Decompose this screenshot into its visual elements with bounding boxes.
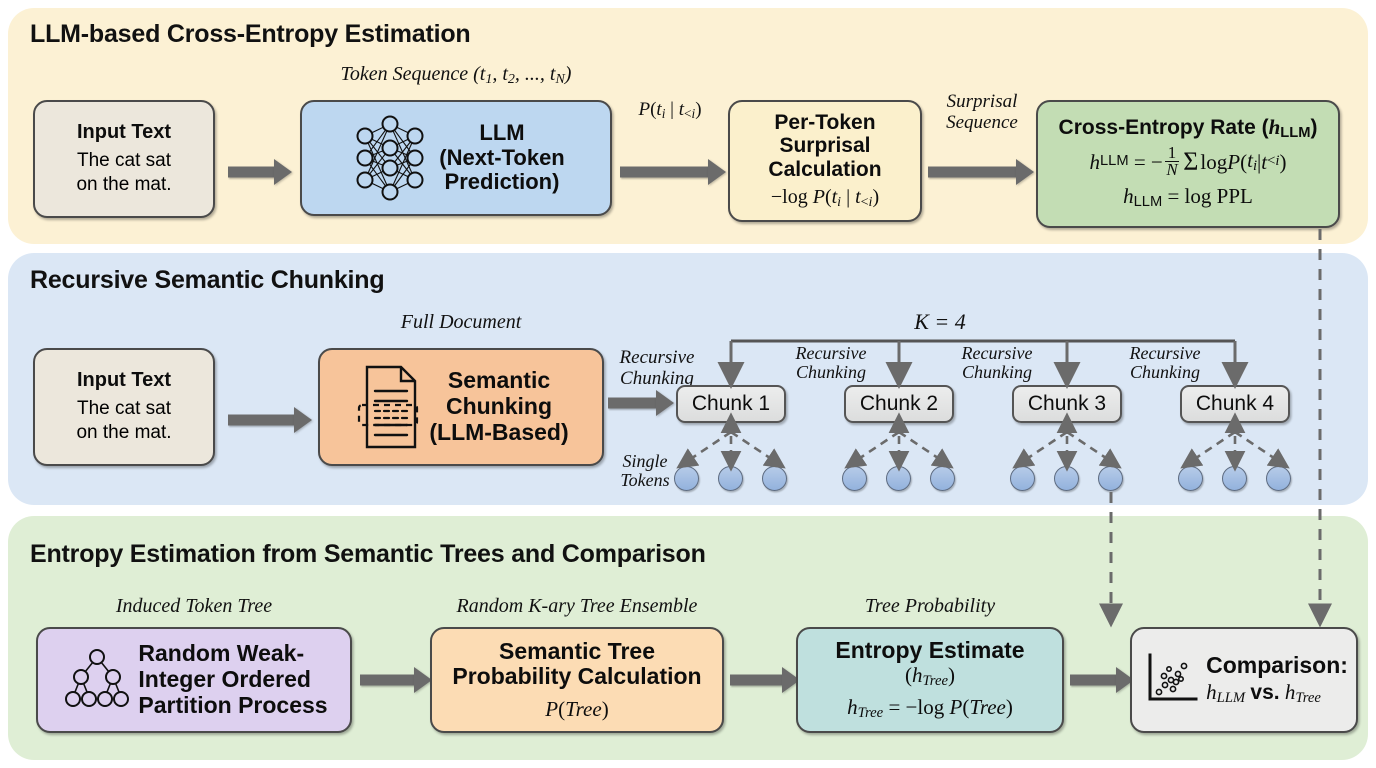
entropy-estimate-line1: Entropy Estimate xyxy=(835,638,1024,664)
surprisal-sequence-line1: Surprisal xyxy=(930,92,1034,113)
arrow-label-conditional-prob: P(ti | t<i) xyxy=(618,100,722,121)
comparison-line1: Comparison: xyxy=(1206,653,1348,679)
branch-label-2-line2: Chunking xyxy=(942,363,1052,382)
token-circle xyxy=(886,466,911,491)
input-text-box-2: Input Text The cat sat on the mat. xyxy=(33,348,215,466)
llm-box-line2: (Next-Token xyxy=(439,146,565,171)
branch-label-2-line1: Recursive xyxy=(942,344,1052,363)
token-circle xyxy=(1054,466,1079,491)
arrow-rwiop-to-prob xyxy=(360,667,432,693)
conditional-prob-text: P(ti | t<i) xyxy=(638,99,701,120)
surprisal-sequence-line2: Sequence xyxy=(930,113,1034,134)
neural-network-icon xyxy=(347,110,433,206)
token-circle xyxy=(930,466,955,491)
token-circle xyxy=(842,466,867,491)
arrow-surprisal-to-entropy xyxy=(928,159,1034,185)
scatter-plot-icon xyxy=(1140,649,1200,711)
llm-box: LLM (Next-Token Prediction) xyxy=(300,100,612,216)
input-text-2-line1: The cat sat xyxy=(77,397,171,421)
prob-formula: P(Tree) xyxy=(545,697,608,721)
entropy-estimate-formula: hTree = −log P(Tree) xyxy=(847,695,1013,722)
chunk-box-4: Chunk 4 xyxy=(1180,385,1290,423)
arrow-label-surprisal-sequence: Surprisal Sequence xyxy=(930,92,1034,133)
k-value-text: K = 4 xyxy=(914,309,966,334)
token-circle xyxy=(1098,466,1123,491)
input-text-line1: The cat sat xyxy=(77,149,171,173)
surprisal-line3: Calculation xyxy=(768,158,881,182)
token-circle xyxy=(674,466,699,491)
token-circle xyxy=(762,466,787,491)
input-text-2-title: Input Text xyxy=(77,369,171,391)
token-circle xyxy=(1178,466,1203,491)
prob-line1: Semantic Tree xyxy=(499,639,655,665)
induced-token-tree-label: Induced Token Tree xyxy=(36,596,352,618)
arrow-input-to-llm xyxy=(228,159,292,185)
recursive-chunking-label-line1: Recursive xyxy=(608,348,706,369)
prob-line2: Probability Calculation xyxy=(452,664,701,690)
panel-3-title: Entropy Estimation from Semantic Trees a… xyxy=(30,540,706,569)
arrow-chunking-to-chunk1 xyxy=(608,390,674,416)
llm-box-line3: Prediction) xyxy=(445,170,560,195)
token-circle xyxy=(1010,466,1035,491)
tree-probability-label: Tree Probability xyxy=(796,596,1064,618)
surprisal-line2: Surprisal xyxy=(779,134,870,158)
entropy-estimate-line2: (hTree) xyxy=(905,663,955,690)
panel-2-title: Recursive Semantic Chunking xyxy=(30,266,384,295)
branch-label-3-line2: Chunking xyxy=(1110,363,1220,382)
input-text-title: Input Text xyxy=(77,121,171,143)
cross-entropy-formula-1: hLLM = − 1N Σ log P(ti | t<i) xyxy=(1090,145,1287,178)
entropy-estimate-box: Entropy Estimate (hTree) hTree = −log P(… xyxy=(796,627,1064,733)
input-text-box-1: Input Text The cat sat on the mat. xyxy=(33,100,215,218)
comparison-line2: hLLM vs. hTree xyxy=(1206,680,1321,707)
token-sequence-text: Token Sequence (t1, t2, ..., tN) xyxy=(341,63,572,85)
figure-root: LLM-based Cross-Entropy Estimation Input… xyxy=(0,0,1376,768)
recursive-chunking-arrow-label: Recursive Chunking xyxy=(608,348,706,389)
input-text-2-line2: on the mat. xyxy=(76,421,171,445)
input-text-line2: on the mat. xyxy=(76,173,171,197)
random-kary-tree-label: Random K-ary Tree Ensemble xyxy=(430,596,724,618)
semantic-chunking-line1: Semantic xyxy=(448,368,550,394)
semantic-chunking-box: Semantic Chunking (LLM-Based) xyxy=(318,348,604,466)
chunk-box-2: Chunk 2 xyxy=(844,385,954,423)
tree-icon xyxy=(60,644,134,716)
rwiop-line2: Integer Ordered xyxy=(138,667,311,693)
k-value-label: K = 4 xyxy=(880,310,1000,334)
chunk-box-4-label: Chunk 4 xyxy=(1196,392,1274,416)
rwiop-line3: Partition Process xyxy=(138,693,327,719)
arrow-input-to-chunking xyxy=(228,407,312,433)
document-chunk-icon xyxy=(353,361,425,453)
llm-box-line1: LLM xyxy=(479,121,524,146)
branch-label-1: Recursive Chunking xyxy=(776,344,886,383)
arrow-prob-to-entropy xyxy=(730,667,800,693)
rwiop-box: Random Weak- Integer Ordered Partition P… xyxy=(36,627,352,733)
token-circle xyxy=(1222,466,1247,491)
chunk-box-3-label: Chunk 3 xyxy=(1028,392,1106,416)
full-document-label: Full Document xyxy=(318,312,604,334)
chunk-box-1-label: Chunk 1 xyxy=(692,392,770,416)
comparison-box: Comparison: hLLM vs. hTree xyxy=(1130,627,1358,733)
token-sequence-label: Token Sequence (t1, t2, ..., tN) xyxy=(300,64,612,87)
chunk-box-2-label: Chunk 2 xyxy=(860,392,938,416)
cross-entropy-rate-box: Cross-Entropy Rate (hLLM) hLLM = − 1N Σ … xyxy=(1036,100,1340,228)
chunk-box-3: Chunk 3 xyxy=(1012,385,1122,423)
semantic-chunking-line2: Chunking xyxy=(446,394,552,420)
cross-entropy-formula-2: hLLM = log PPL xyxy=(1123,184,1253,211)
semantic-tree-probability-box: Semantic Tree Probability Calculation P(… xyxy=(430,627,724,733)
semantic-chunking-line3: (LLM-Based) xyxy=(429,420,568,446)
token-circle xyxy=(718,466,743,491)
cross-entropy-title: Cross-Entropy Rate (hLLM) xyxy=(1059,116,1318,142)
chunk-box-1: Chunk 1 xyxy=(676,385,786,423)
branch-label-2: Recursive Chunking xyxy=(942,344,1052,383)
surprisal-formula: −log P(ti | t<i) xyxy=(771,186,879,211)
branch-label-3-line1: Recursive xyxy=(1110,344,1220,363)
arrow-entropy-to-comparison xyxy=(1070,667,1134,693)
token-circle xyxy=(1266,466,1291,491)
rwiop-line1: Random Weak- xyxy=(138,641,304,667)
branch-label-1-line2: Chunking xyxy=(776,363,886,382)
branch-label-1-line1: Recursive xyxy=(776,344,886,363)
panel-1-title: LLM-based Cross-Entropy Estimation xyxy=(30,20,470,49)
arrow-llm-to-surprisal xyxy=(620,159,726,185)
branch-label-3: Recursive Chunking xyxy=(1110,344,1220,383)
per-token-surprisal-box: Per-Token Surprisal Calculation −log P(t… xyxy=(728,100,922,222)
surprisal-line1: Per-Token xyxy=(774,111,875,135)
single-tokens-line1: Single xyxy=(600,452,690,471)
